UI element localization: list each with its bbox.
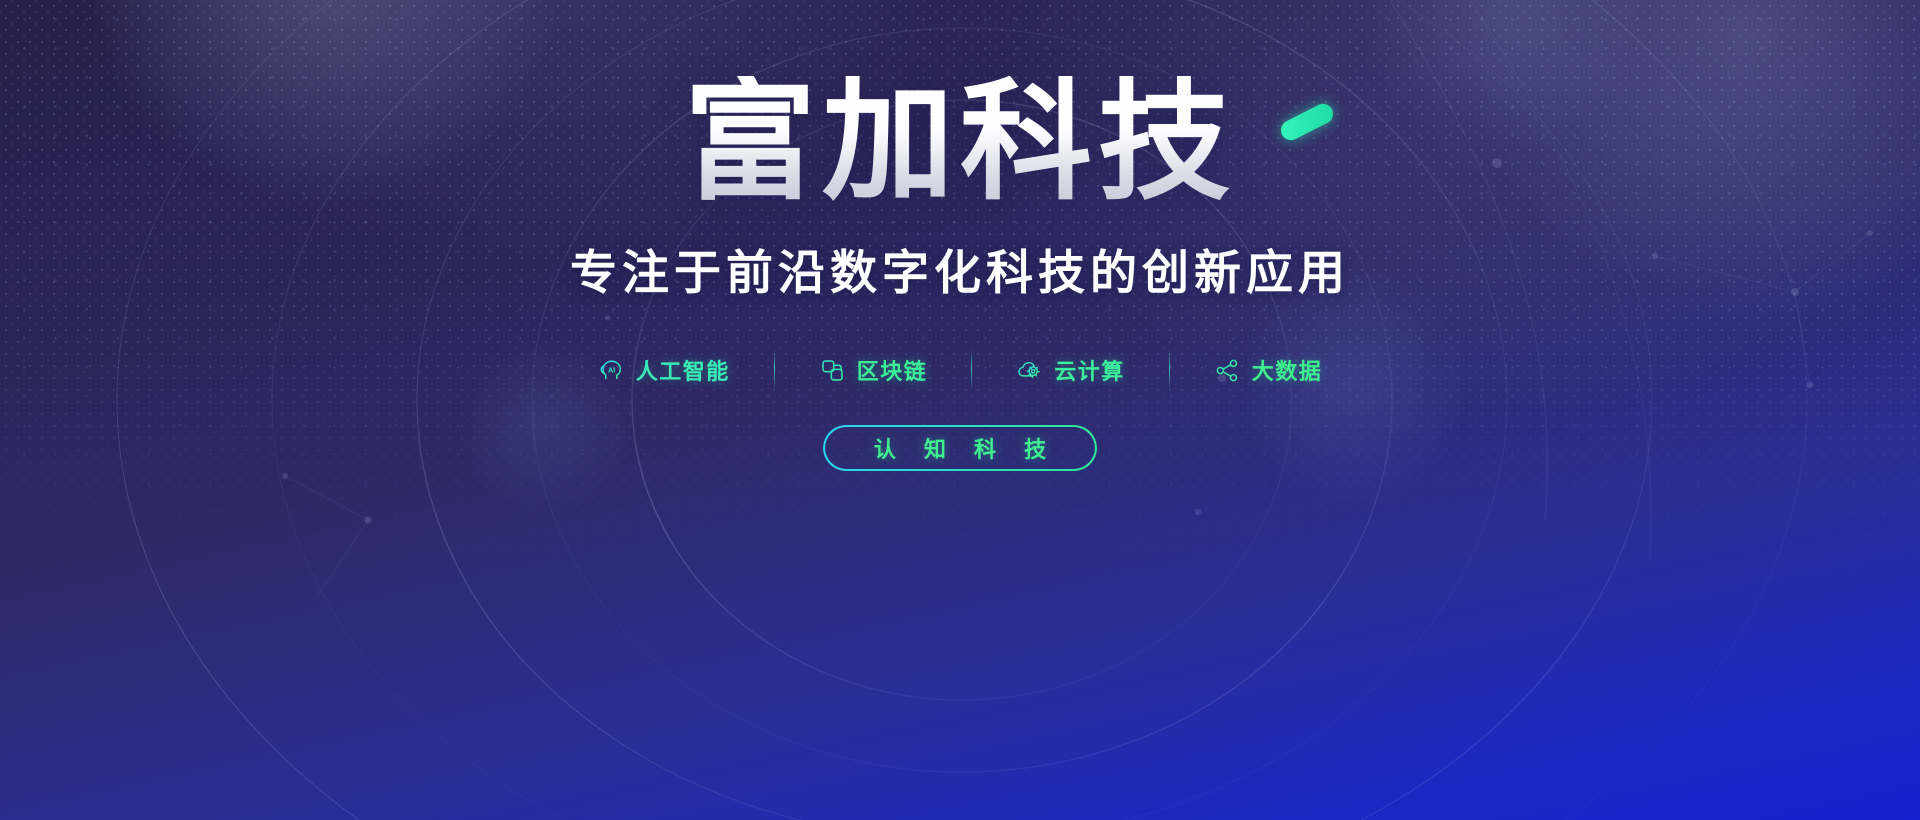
- feature-tag-label: 大数据: [1252, 354, 1323, 386]
- green-brush-stroke-icon: [1278, 100, 1337, 143]
- feature-tag-label: 云计算: [1054, 354, 1125, 386]
- cognitive-tech-badge[interactable]: 认 知 科 技: [823, 425, 1097, 471]
- cloud-gear-icon: [1016, 357, 1043, 384]
- feature-tag-blockchain[interactable]: 区块链: [775, 354, 972, 386]
- feature-tag-label: 区块链: [857, 354, 928, 386]
- feature-tag-bigdata[interactable]: 大数据: [1170, 354, 1367, 386]
- feature-tag-label: 人工智能: [636, 354, 730, 386]
- feature-tag-list: AI 人工智能: [554, 349, 1367, 391]
- hero-content: 富加科技 专注于前沿数字化科技的创新应用 AI: [0, 0, 1920, 820]
- badge-container: 认 知 科 技: [823, 425, 1097, 471]
- brand-logo-text: 富加科技: [684, 76, 1236, 208]
- feature-tag-ai[interactable]: AI 人工智能: [554, 354, 774, 386]
- hero-subtitle: 专注于前沿数字化科技的创新应用: [570, 234, 1350, 303]
- feature-tag-cloud[interactable]: 云计算: [972, 354, 1169, 386]
- blockchain-blocks-icon: [819, 357, 846, 384]
- ai-head-icon: AI: [598, 357, 625, 384]
- svg-text:AI: AI: [608, 365, 615, 374]
- cognitive-tech-badge-label: 认 知 科 技: [863, 432, 1057, 464]
- brand-logo: 富加科技: [684, 76, 1236, 208]
- share-network-icon: [1214, 357, 1241, 384]
- hero-banner: 富加科技 专注于前沿数字化科技的创新应用 AI: [0, 0, 1920, 820]
